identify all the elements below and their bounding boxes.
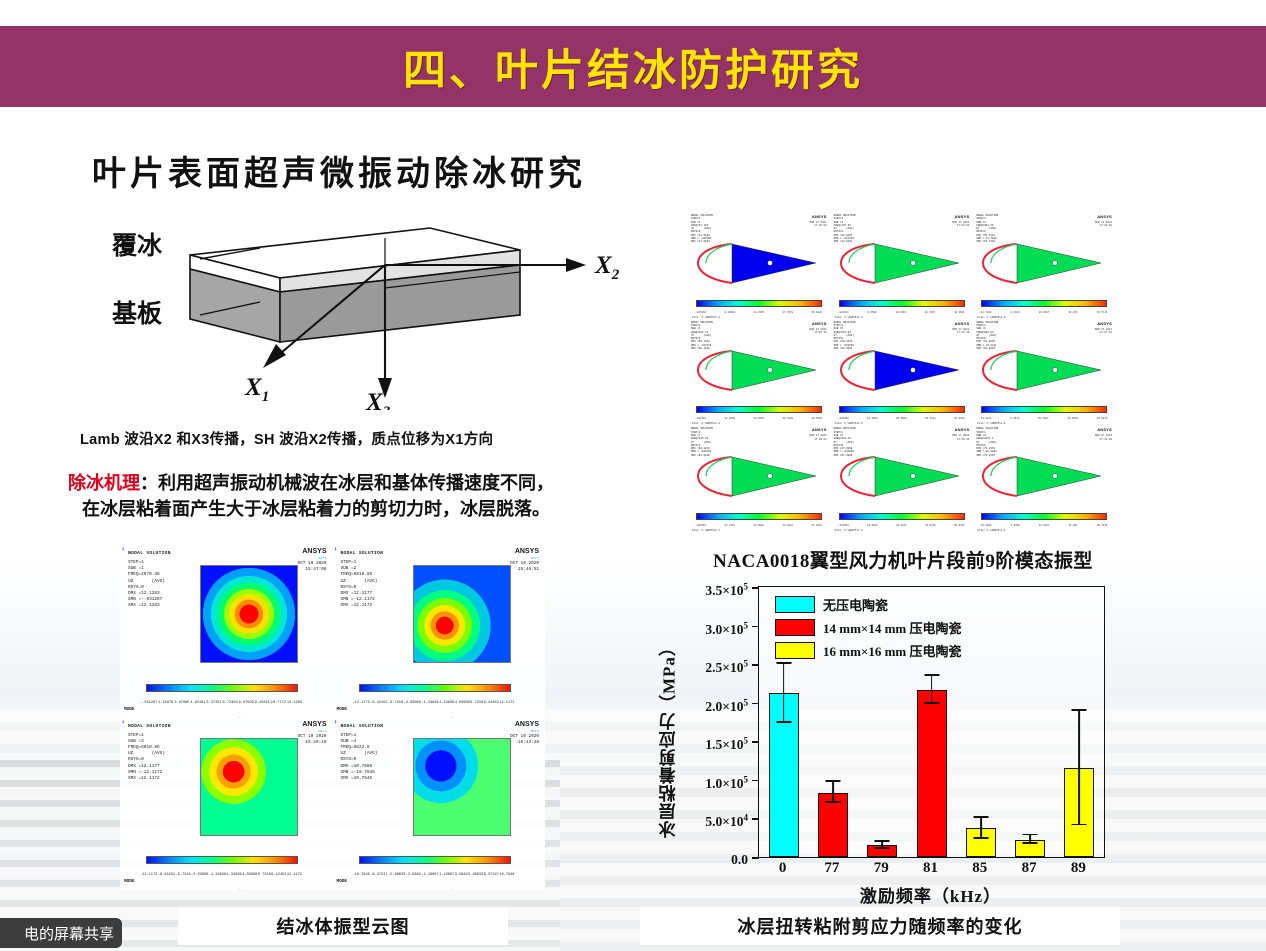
ansys-logo-text: ANSYS [302, 548, 326, 555]
panel-colorbar [146, 856, 298, 864]
ice-modal-panel-grid: 1NODAL SOLUTIONSTEP=1 SUB =1 FREQ=2970.3… [120, 545, 545, 890]
panel-colorbar-value: 5.98033 [468, 873, 483, 877]
panel-title: NODAL SOLUTION [341, 724, 384, 729]
panel-colorbar-value: 12.1172 [499, 701, 514, 705]
naca-colorbar-value: 12.9594 [867, 417, 878, 420]
naca-colorbar-value: 36.4822 [811, 311, 822, 314]
chart-error-cap-bottom [875, 847, 890, 849]
panel-colorbar [359, 856, 511, 864]
panel-colorbar-value: 9.42452 [484, 701, 499, 705]
naca-colorbar-value: 16.9317 [1039, 311, 1050, 314]
naca-cell-date: MAR 17 2021 17:31:28 [1095, 434, 1112, 441]
naca-colorbar-value: -.041904 [837, 524, 849, 527]
chart-y-tick-mark [752, 664, 759, 666]
panel-colorbar-value: -4.03908 [404, 701, 421, 705]
panel-mode-label: MODE [124, 879, 135, 884]
panel-colorbar-value: 5.37297 [206, 701, 221, 705]
chart-x-tick: 87 [1022, 860, 1037, 877]
chart-y-tick: 1.0×105 [705, 774, 748, 792]
panel-colorbar-value: 10.7646 [499, 873, 514, 877]
airfoil-shape [835, 451, 967, 503]
chart-x-tick: 85 [972, 860, 987, 877]
chart-bar-group [867, 587, 897, 857]
chart-bar-group [769, 587, 799, 857]
panel-colorbar-value: -9.42452 [370, 701, 387, 705]
chart-bar [917, 690, 947, 857]
chart-error-cap-top [1072, 709, 1087, 711]
naca-colorbar-value: 29.9671 [896, 524, 907, 527]
naca-colorbar-values: -.0215139.558919.139328.719738.3001 [837, 311, 965, 314]
panel-mode-label: MODE [337, 879, 348, 884]
panel-colorbar-value: 1.34636 [439, 701, 454, 705]
naca-colorbar-value: 9.10918 [724, 311, 735, 314]
chart-y-axis-title: 冰层粘着剪应力（MPa） [656, 618, 682, 858]
chart-error-cap-bottom [825, 801, 840, 803]
naca-colorbar-value: -.027116 [694, 417, 706, 420]
title-banner: 四、叶片结冰防护研究 [0, 26, 1266, 107]
naca-colorbar [839, 513, 965, 520]
naca-colorbar [696, 513, 822, 520]
plate-label-ice: 覆冰 [111, 232, 163, 260]
panel-colorbar [146, 684, 298, 692]
naca-cell-file: File: C:\ANSYS\k.8 [835, 529, 863, 532]
chart-x-tick-labels: 0777981858789 [758, 860, 1103, 882]
naca-colorbar-value: -.031552 [837, 417, 849, 420]
naca-cell-date: MAR 17 2021 17:30:15 [952, 434, 969, 441]
naca-colorbar-values: -.04190414.962629.967144.971659.9761 [837, 524, 965, 527]
naca-colorbar-value: 45.5743 [1097, 311, 1108, 314]
panel-colorbar-values: -10.7646-8.37247-5.98033-3.5882-1.196071… [353, 873, 515, 877]
panel-colorbar-value: 4.02191 [190, 701, 205, 705]
chart-error-cap-top [924, 674, 939, 676]
naca-colorbar [696, 406, 822, 413]
panel-colorbar-value: 6.72403 [223, 701, 238, 705]
panel-colorbar-value: -5.98033 [388, 873, 405, 877]
naca-colorbar-value: 14.2715 [724, 524, 735, 527]
panel-colorbar-value: -1.34636 [209, 873, 226, 877]
naca-modal-cell: NODAL SOLUTION STEP=1 SUB =3 FREQ=304.16… [973, 212, 1116, 319]
panel-colorbar-value: 2.67085 [174, 701, 189, 705]
chart-bars-layer [759, 587, 1104, 857]
panel-colorbar-value: -6.7318 [388, 701, 403, 705]
naca-colorbar-values: -.03876414.271528.581842.892157.2024 [694, 524, 822, 527]
modal-contour-plot [413, 565, 511, 663]
chart-x-tick: 89 [1071, 860, 1086, 877]
naca-modal-cell: NODAL SOLUTION STEP=1 SUB =6 FREQ=688.03… [973, 319, 1116, 426]
naca-colorbar-value: 25.9504 [896, 417, 907, 420]
naca-colorbar-value: 12.2468 [724, 417, 735, 420]
chart-y-tick: 5.0×104 [705, 813, 748, 831]
chart-bar-group [917, 587, 947, 857]
ansys-logo-text: ANSYS [812, 427, 827, 432]
panel-colorbar-value: -8.37247 [370, 873, 387, 877]
naca-cell-date: MAR 17 2021 17:23:04 [952, 221, 969, 228]
naca-colorbar-value: 53.5415 [1097, 417, 1108, 420]
naca-modal-cell: NODAL SOLUTION STEP=1 SUB =8 FREQ=944.61… [831, 425, 974, 532]
panel-colorbar-value: -12.1172 [353, 701, 370, 705]
modal-contour-plot [200, 565, 298, 663]
naca-modal-grid: NODAL SOLUTION STEP=1 SUB =1 FREQ=67.728… [688, 212, 1116, 532]
deicing-mechanism-text: 除冰机理：利用超声振动机械波在冰层和基体传播速度不同， 在冰层粘着面产生大于冰层… [68, 470, 678, 522]
naca-colorbar-values: -.03155212.959425.950438.941451.9324 [837, 417, 965, 420]
naca-cell-date: MAR 17 2021 17:29:03 [810, 434, 827, 441]
chart-error-cap-top [973, 816, 988, 818]
chart-bar-group [966, 587, 996, 857]
panel-colorbar-value: -6.7318 [176, 873, 191, 877]
ansys-logo-text: ANSYS [1097, 214, 1112, 219]
chart-error-bar [931, 676, 933, 705]
ansys-logo-text: ANSYS [812, 321, 827, 326]
naca-colorbar-value: -.021513 [837, 311, 849, 314]
naca-colorbar [981, 300, 1107, 307]
naca-colorbar [839, 300, 965, 307]
chart-bar-group [1064, 587, 1094, 857]
screen-share-badge: 电的屏幕共享 [0, 918, 122, 948]
ansys-logo-text: ANSYS [955, 321, 970, 326]
naca-colorbar-value: 24.5207 [753, 417, 764, 420]
panel-colorbar [359, 684, 511, 692]
chart-plot-area: 无压电陶瓷14 mm×14 mm 压电陶瓷16 mm×16 mm 压电陶瓷 [758, 586, 1105, 858]
panel-index: 1 [122, 546, 124, 551]
naca-modal-cell: NODAL SOLUTION STEP=1 SUB =4 FREQ=422.74… [688, 319, 831, 426]
chart-y-tick: 2.5×105 [705, 658, 748, 676]
panel-date: OCT 10 2020 15:46:51 [510, 561, 539, 573]
panel-meta: STEP=1 SUB =1 FREQ=2970.38 UZ (AVG) RSYS… [128, 560, 165, 610]
ansys-release: R17.1 [531, 729, 539, 733]
naca-colorbar-value: -.015162 [694, 311, 706, 314]
chart-y-tick: 0.0 [731, 852, 748, 868]
panel-date: OCT 10 2020 15:47:08 [298, 561, 327, 573]
caption-ice-modal-cloud: 结冰体振型云图 [178, 907, 508, 945]
panel-colorbar-value: 6.7318 [258, 873, 271, 877]
naca-colorbar-value: 28.7197 [925, 311, 936, 314]
panel-caption: d）4 阶 [333, 887, 546, 890]
naca-colorbar-value: -11.7109 [979, 311, 991, 314]
ansys-logo-text: ANSYS [302, 721, 326, 728]
page-title: 四、叶片结冰防护研究 [403, 36, 863, 98]
naca-grid-caption: NACA0018翼型风力机叶片段前9阶模态振型 [688, 546, 1118, 573]
ansys-logo-text: ANSYS [515, 548, 539, 555]
chart-y-tick: 1.5×105 [705, 736, 748, 754]
deicing-mechanism-line2: 在冰层粘着面产生大于冰层粘着力的剪切力时，冰层脱落。 [68, 496, 678, 522]
chart-y-tick-mark [752, 587, 759, 589]
panel-meta: STEP=1 SUB =3 FREQ=6019.85 UZ (AVG) RSYS… [128, 733, 165, 783]
chart-error-bar [832, 782, 834, 803]
plate-schematic-diagram: 覆冰 基板 X1 X2 X3 [100, 210, 660, 410]
chart-y-tick-mark [752, 857, 759, 859]
naca-colorbar-value: 38.3001 [954, 311, 965, 314]
chart-error-bar [783, 664, 785, 723]
screen-share-label: 电的屏幕共享 [24, 923, 114, 944]
naca-colorbar-values: -.0151629.1091818.233527.357836.4822 [694, 311, 822, 314]
section-heading: 叶片表面超声微振动除冰研究 [92, 146, 586, 195]
panel-colorbar-value: 9.42615 [255, 701, 270, 705]
naca-colorbar-value: 36.8501 [1067, 417, 1078, 420]
naca-colorbar-value: 9.5589 [868, 311, 877, 314]
chart-y-tick-mark [752, 703, 759, 705]
naca-cell-file: File: C:\ANSYS\k.7 [692, 529, 720, 532]
airfoil-shape [692, 451, 824, 503]
airfoil-shape [835, 238, 967, 290]
panel-title: NODAL SOLUTION [341, 551, 384, 556]
ansys-release: R17.1 [318, 729, 326, 733]
panel-caption: c）3 阶 [120, 887, 333, 890]
panel-colorbar-value: 1.19607 [439, 873, 454, 877]
naca-cell-date: MAR 17 2021 17:27:52 [1095, 328, 1112, 335]
naca-cell-date: MAR 17 2021 17:24:18 [1095, 221, 1112, 228]
panel-colorbar-value: 10.7772 [271, 701, 286, 705]
naca-modal-cell: NODAL SOLUTION STEP=1 SUB =7 FREQ=815.22… [688, 425, 831, 532]
panel-index: 1 [122, 719, 124, 724]
naca-colorbar-value: -15.0028 [979, 524, 991, 527]
naca-colorbar-value: 44.9716 [925, 524, 936, 527]
naca-colorbar-value: 19.1393 [895, 311, 906, 314]
chart-bar-group [818, 587, 848, 857]
panel-colorbar-value: 3.5882 [455, 873, 468, 877]
naca-colorbar-value: -.038764 [694, 524, 706, 527]
naca-colorbar [981, 406, 1107, 413]
airfoil-shape [835, 345, 967, 397]
naca-colorbar-values: -15.00283.933822.870441.80760.7436 [979, 524, 1107, 527]
naca-colorbar-value: 31.253 [1069, 311, 1078, 314]
naca-modal-cell: NODAL SOLUTION STEP=1 SUB =1 FREQ=67.728… [688, 212, 831, 319]
naca-colorbar-value: 28.5818 [753, 524, 764, 527]
caption-shear-stress-chart: 冰层扭转粘附剪应力随频率的变化 [640, 907, 1120, 945]
chart-y-tick: 2.0×105 [705, 697, 748, 715]
naca-colorbar-value: 41.807 [1069, 524, 1078, 527]
plate-label-substrate: 基板 [112, 300, 162, 328]
deicing-mechanism-line1: ：利用超声振动机械波在冰层和基体传播速度不同， [140, 473, 554, 493]
panel-title: NODAL SOLUTION [128, 551, 171, 556]
naca-colorbar [981, 513, 1107, 520]
naca-colorbar-values: -11.71092.610416.931731.25345.5743 [979, 311, 1107, 314]
panel-colorbar-value: 8.37247 [484, 873, 499, 877]
ansys-logo-text: ANSYS [1097, 427, 1112, 432]
panel-meta: STEP=1 SUB =4 FREQ=8822.9 UZ (AVG) RSYS=… [341, 733, 378, 783]
chart-error-cap-bottom [1023, 842, 1038, 844]
naca-colorbar-value: 3.4673 [1010, 417, 1019, 420]
naca-colorbar-value: 3.9338 [1011, 524, 1020, 527]
chart-error-cap-top [1023, 834, 1038, 836]
naca-colorbar-value: 51.9324 [954, 417, 965, 420]
panel-colorbar-value: -1.19607 [421, 873, 438, 877]
panel-index: 1 [335, 546, 337, 551]
panel-colorbar-value: -4.03908 [191, 873, 208, 877]
naca-cell-date: MAR 17 2021 17:22:02 [810, 221, 827, 228]
airfoil-shape [977, 345, 1109, 397]
naca-cell-date: MAR 17 2021 17:26:40 [952, 328, 969, 335]
chart-error-bar [980, 818, 982, 839]
airfoil-shape [977, 451, 1109, 503]
chart-error-cap-top [875, 840, 890, 842]
ice-modal-panel: 1NODAL SOLUTIONSTEP=1 SUB =1 FREQ=2970.3… [120, 545, 333, 718]
chart-x-tick: 77 [824, 860, 839, 877]
panel-index: 1 [335, 719, 337, 724]
modal-contour-plot [413, 738, 511, 836]
airfoil-shape [692, 238, 824, 290]
panel-colorbar-value: -9.42452 [158, 873, 175, 877]
panel-mode-label: MODE [337, 707, 348, 712]
deicing-mechanism-label: 除冰机理 [68, 473, 140, 493]
naca-colorbar-value: 36.7946 [782, 417, 793, 420]
naca-colorbar-value: 60.7436 [1097, 524, 1108, 527]
chart-y-tick-mark [752, 818, 759, 820]
naca-colorbar-value: 42.8921 [782, 524, 793, 527]
naca-colorbar-value: 49.0685 [811, 417, 822, 420]
ice-modal-panel: 1NODAL SOLUTIONSTEP=1 SUB =3 FREQ=6019.8… [120, 718, 333, 891]
panel-colorbar-value: 1.34636 [227, 873, 242, 877]
panel-colorbar-value: 1.31979 [158, 701, 173, 705]
naca-colorbar-value: -13.2241 [979, 417, 991, 420]
naca-modal-cell: NODAL SOLUTION STEP=1 SUB =9 FREQ=1072.4… [973, 425, 1116, 532]
panel-meta: STEP=1 SUB =2 FREQ=6019.85 UZ (AVG) RSYS… [341, 560, 378, 610]
panel-colorbar-value: 12.1172 [287, 873, 302, 877]
naca-colorbar-value: 38.9414 [925, 417, 936, 420]
modal-contour-plot [200, 738, 298, 836]
axis-label-x2: X2 [594, 252, 620, 283]
panel-colorbar-value: 9.42452 [271, 873, 286, 877]
chart-y-tick-mark [752, 780, 759, 782]
naca-colorbar-value: 14.9626 [867, 524, 878, 527]
panel-colorbar-value: -.031267 [140, 701, 157, 705]
panel-colorbar-value: 4.03908 [242, 873, 257, 877]
naca-colorbar-value: 22.8704 [1039, 524, 1050, 527]
chart-y-tick-mark [752, 741, 759, 743]
naca-colorbar-values: -.02711612.246824.520736.794649.0685 [694, 417, 822, 420]
chart-x-tick: 0 [779, 860, 787, 877]
airfoil-shape [977, 238, 1109, 290]
panel-colorbar-values: -.0312671.319792.670854.021915.372976.72… [140, 701, 302, 705]
panel-colorbar-value: 12.1283 [287, 701, 302, 705]
panel-colorbar-values: -12.1172-9.42452-6.7318-4.03908-1.346361… [140, 873, 302, 877]
chart-y-tick-mark [752, 626, 759, 628]
chart-error-cap-bottom [924, 702, 939, 704]
ansys-logo-text: ANSYS [955, 214, 970, 219]
naca-cell-file: File: C:\ANSYS\k.9 [977, 529, 1005, 532]
naca-colorbar-value: 20.1587 [1038, 417, 1049, 420]
naca-colorbar-values: -13.22413.467320.158736.850153.5415 [979, 417, 1107, 420]
chart-error-cap-top [776, 662, 791, 664]
axis-label-x1: X1 [244, 374, 269, 405]
chart-y-tick: 3.5×105 [705, 581, 748, 599]
chart-x-tick: 79 [874, 860, 889, 877]
panel-colorbar-value: -1.34636 [421, 701, 438, 705]
chart-bar-group [1015, 587, 1045, 857]
chart-error-cap-top [825, 780, 840, 782]
naca-colorbar-value: 18.2335 [753, 311, 764, 314]
shear-stress-bar-chart: 冰层粘着剪应力（MPa） 0.05.0×1041.0×1051.5×1052.0… [658, 582, 1120, 897]
panel-colorbar-value: -10.7646 [353, 873, 370, 877]
panel-colorbar-value: 4.03908 [455, 701, 470, 705]
naca-colorbar-value: 2.6104 [1011, 311, 1020, 314]
panel-colorbar-value: 8.07509 [239, 701, 254, 705]
panel-title: NODAL SOLUTION [128, 724, 171, 729]
naca-colorbar-value: 27.3578 [782, 311, 793, 314]
ice-modal-panel: 1NODAL SOLUTIONSTEP=1 SUB =2 FREQ=6019.8… [333, 545, 546, 718]
ansys-release: R17.1 [318, 556, 326, 560]
lamb-wave-note: Lamb 波沿Χ2 和Χ3传播，SH 波沿Χ2传播，质点位移为Χ1方向 [80, 428, 680, 449]
naca-modal-cell: NODAL SOLUTION STEP=1 SUB =2 FREQ=176.39… [831, 212, 974, 319]
naca-cell-date: MAR 17 2021 17:25:31 [810, 328, 827, 335]
chart-y-tick: 3.0×105 [705, 620, 748, 638]
chart-x-tick: 81 [923, 860, 938, 877]
chart-error-cap-bottom [776, 721, 791, 723]
chart-y-tick-labels: 0.05.0×1041.0×1051.5×1052.0×1052.5×1053.… [680, 586, 752, 856]
panel-colorbar-value: -12.1172 [140, 873, 157, 877]
chart-error-cap-bottom [1072, 824, 1087, 826]
panel-mode-label: MODE [124, 707, 135, 712]
panel-colorbar-value: -3.5882 [406, 873, 421, 877]
ansys-release: R17.1 [531, 556, 539, 560]
panel-date: OCT 10 2020 15:43:48 [510, 734, 539, 746]
chart-error-cap-bottom [973, 837, 988, 839]
naca-colorbar [696, 300, 822, 307]
ansys-logo-text: ANSYS [515, 721, 539, 728]
panel-date: OCT 10 2020 15:46:19 [298, 734, 327, 746]
panel-colorbar-value: 6.7318 [470, 701, 483, 705]
ansys-logo-text: ANSYS [955, 427, 970, 432]
naca-colorbar-value: 59.9761 [954, 524, 965, 527]
panel-colorbar-values: -12.1172-9.42452-6.7318-4.03908-1.346361… [353, 701, 515, 705]
ansys-logo-text: ANSYS [812, 214, 827, 219]
ice-modal-panel: 1NODAL SOLUTIONSTEP=1 SUB =4 FREQ=8822.9… [333, 718, 546, 891]
chart-error-bar [1078, 711, 1080, 825]
naca-colorbar-value: 57.2024 [811, 524, 822, 527]
naca-modal-cell: NODAL SOLUTION STEP=1 SUB =5 FREQ=551.08… [831, 319, 974, 426]
chart-x-axis-title: 激励频率（kHz） [758, 882, 1103, 907]
ansys-logo-text: ANSYS [1097, 321, 1112, 326]
airfoil-shape [692, 345, 824, 397]
naca-colorbar [839, 406, 965, 413]
